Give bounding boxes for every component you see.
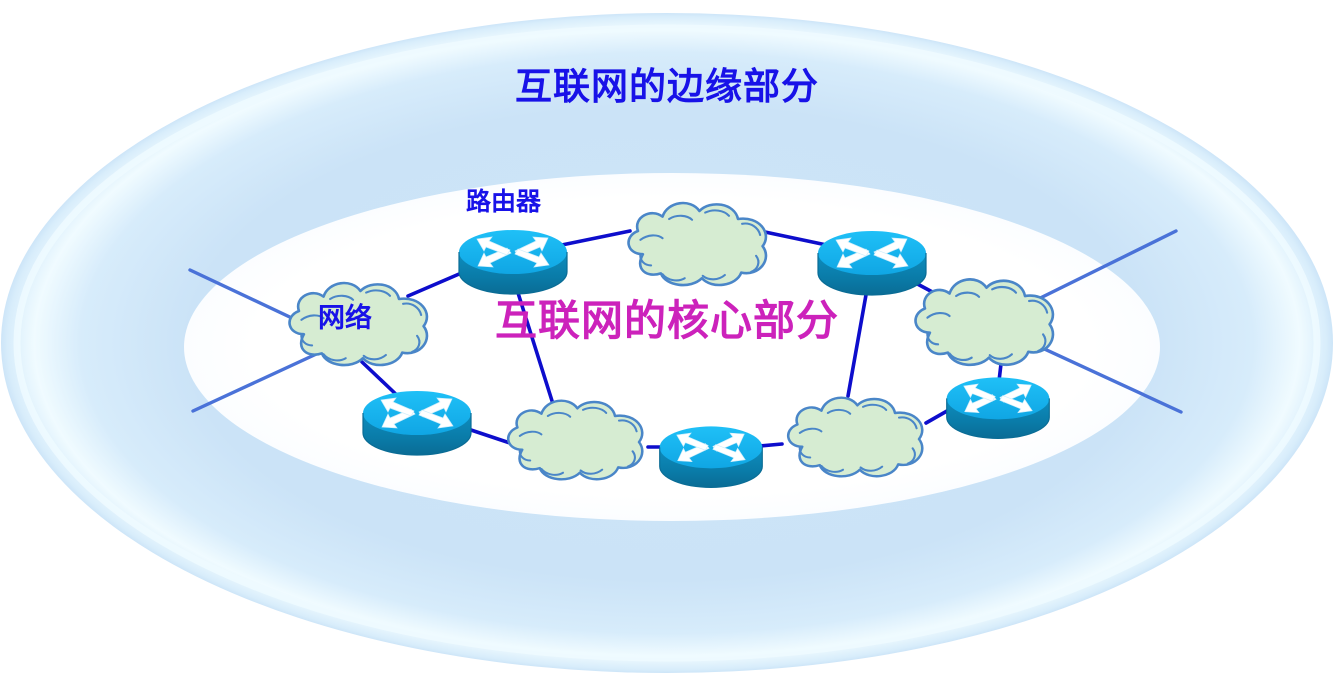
- core-region-title: 互联网的核心部分: [0, 300, 1334, 342]
- diagram-canvas: 互联网的边缘部分 互联网的核心部分 路由器 网络: [0, 0, 1334, 687]
- router-bottom[interactable]: [660, 426, 763, 487]
- router-label: 路由器: [466, 190, 541, 215]
- router-top-right[interactable]: [818, 231, 926, 295]
- router-right-low[interactable]: [947, 377, 1050, 438]
- router-left-low[interactable]: [363, 391, 471, 455]
- network-label: 网络: [318, 305, 372, 332]
- router-top-left[interactable]: [459, 230, 567, 294]
- page-title: 互联网的边缘部分: [0, 68, 1334, 105]
